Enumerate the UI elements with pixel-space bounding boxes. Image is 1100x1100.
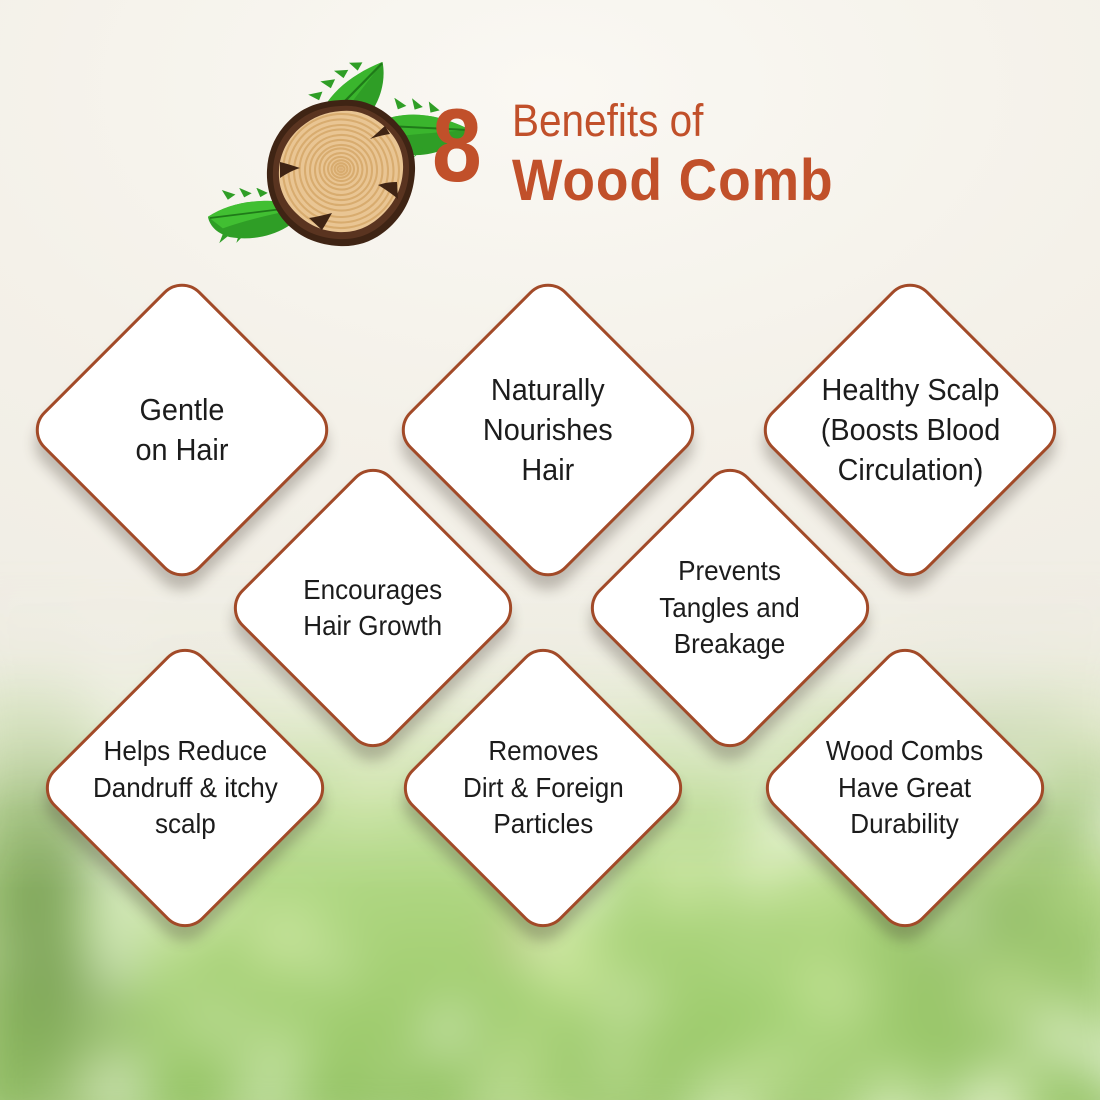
logo-wood-slice-group xyxy=(258,76,428,246)
benefit-label: Prevents Tangles and Breakage xyxy=(654,553,806,662)
bokeh-dot xyxy=(21,1082,50,1100)
bokeh-dot xyxy=(993,635,1031,674)
benefit-label: Encourages Hair Growth xyxy=(298,572,448,645)
bokeh-dot xyxy=(789,954,846,1010)
page-title-line-1: Benefits of xyxy=(512,98,703,143)
bokeh-dot xyxy=(325,761,399,831)
header: 8 Benefits of Wood Comb xyxy=(0,28,1100,258)
bokeh-dot xyxy=(1047,758,1080,785)
benefit-label: Gentle on Hair xyxy=(130,390,234,471)
benefit-diamond-reduce-dandruff[interactable]: Helps Reduce Dandruff & itchy scalp xyxy=(79,682,291,894)
benefit-count: 8 xyxy=(432,94,480,198)
benefit-label: Helps Reduce Dandruff & itchy scalp xyxy=(87,733,283,842)
bokeh-dot xyxy=(78,1016,107,1040)
bokeh-dot xyxy=(744,1052,789,1100)
benefit-diamond-great-durability[interactable]: Wood Combs Have Great Durability xyxy=(799,682,1011,894)
bokeh-dot xyxy=(436,1007,470,1044)
bokeh-dot xyxy=(1029,1004,1093,1067)
benefit-diamond-removes-dirt[interactable]: Removes Dirt & Foreign Particles xyxy=(437,682,649,894)
bokeh-dot xyxy=(176,990,250,1057)
title-block: 8 Benefits of Wood Comb xyxy=(432,90,1072,240)
page-title-line-2: Wood Comb xyxy=(512,152,833,210)
bokeh-dot xyxy=(935,900,978,942)
bokeh-dot xyxy=(290,876,345,930)
bokeh-dot xyxy=(601,1056,645,1100)
benefit-diamond-gentle-on-hair[interactable]: Gentle on Hair xyxy=(71,319,293,541)
bokeh-dot xyxy=(956,1023,970,1037)
bokeh-dot xyxy=(654,850,709,908)
bokeh-dot xyxy=(380,1068,397,1085)
bokeh-dot xyxy=(653,832,671,850)
benefit-label: Healthy Scalp (Boosts Blood Circulation) xyxy=(815,370,1006,491)
bokeh-dot xyxy=(312,993,327,1009)
bokeh-dot xyxy=(1069,900,1095,928)
bokeh-dot xyxy=(728,847,801,910)
wood-slice-icon xyxy=(266,98,416,248)
infographic-poster: 8 Benefits of Wood Comb Gentle on Hair N… xyxy=(0,0,1100,1100)
bokeh-dot xyxy=(59,884,131,964)
bokeh-dot xyxy=(317,947,352,983)
benefit-label: Naturally Nourishes Hair xyxy=(478,370,619,491)
bokeh-dot xyxy=(1031,715,1085,765)
benefit-label: Removes Dirt & Foreign Particles xyxy=(457,733,629,842)
bokeh-blossom xyxy=(503,920,531,948)
benefit-label: Wood Combs Have Great Durability xyxy=(821,733,989,842)
bokeh-dot xyxy=(597,977,659,1030)
